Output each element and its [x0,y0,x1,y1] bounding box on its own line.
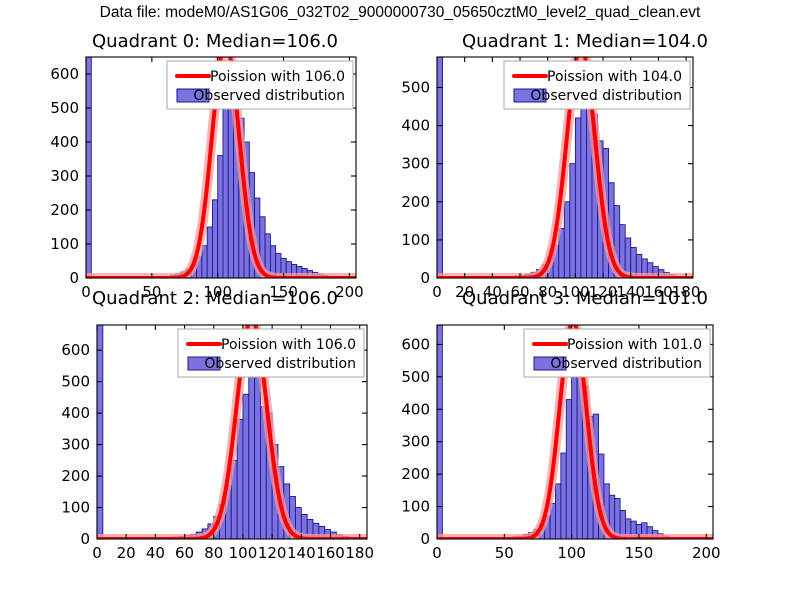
x-tick-label: 60 [175,544,194,562]
legend[interactable]: Poission with 104.0Observed distribution [504,61,690,109]
legend[interactable]: Poission with 106.0Observed distribution [167,61,353,109]
y-tick-label: 0 [420,269,430,287]
y-tick-label: 400 [61,404,90,422]
legend[interactable]: Poission with 101.0Observed distribution [524,329,710,377]
panel-quadrant-1: 0204060801001201401601800100200300400500… [385,47,707,308]
y-tick-label: 100 [50,235,79,253]
y-tick-label: 100 [401,231,430,249]
y-tick-label: 600 [401,335,430,353]
legend-label-poisson: Poission with 104.0 [547,69,682,85]
x-tick-label: 150 [625,544,654,562]
x-tick-label: 160 [316,544,345,562]
x-tick-label: 0 [432,544,442,562]
y-tick-label: 200 [401,465,430,483]
legend-label-observed: Observed distribution [193,88,345,104]
legend-label-poisson: Poission with 101.0 [567,337,702,353]
x-tick-label: 100 [557,544,586,562]
x-tick-label: 140 [287,544,316,562]
panel-title-quadrant-3: Quadrant 3: Median=101.0 [370,288,800,309]
panel-quadrant-2: 0204060801001201401601800100200300400500… [45,315,381,569]
legend[interactable]: Poission with 106.0Observed distribution [178,329,364,377]
y-tick-label: 500 [61,373,90,391]
x-tick-label: 20 [117,544,136,562]
panel-quadrant-0: 0501001502000100200300400500600Poission … [34,47,370,308]
y-tick-label: 400 [50,133,79,151]
y-tick-label: 200 [401,193,430,211]
x-tick-label: 40 [146,544,165,562]
legend-label-observed: Observed distribution [204,356,356,372]
legend-label-observed: Observed distribution [550,356,702,372]
y-tick-label: 200 [61,467,90,485]
y-tick-label: 600 [50,65,79,83]
x-tick-label: 50 [495,544,514,562]
y-tick-label: 500 [401,78,430,96]
figure-suptitle: Data file: modeM0/AS1G06_032T02_90000007… [0,4,800,22]
y-tick-label: 0 [80,530,90,548]
y-tick-label: 600 [61,341,90,359]
y-tick-label: 100 [401,498,430,516]
legend-label-poisson: Poission with 106.0 [210,69,345,85]
y-tick-label: 300 [401,155,430,173]
x-tick-label: 120 [258,544,287,562]
x-tick-label: 80 [204,544,223,562]
y-tick-label: 400 [401,117,430,135]
x-tick-label: 200 [692,544,721,562]
y-tick-label: 500 [50,99,79,117]
x-tick-label: 180 [345,544,374,562]
y-tick-label: 400 [401,400,430,418]
legend-label-observed: Observed distribution [530,88,682,104]
y-tick-label: 100 [61,499,90,517]
y-tick-label: 300 [61,436,90,454]
y-tick-label: 0 [420,530,430,548]
y-tick-label: 500 [401,368,430,386]
figure-canvas: Data file: modeM0/AS1G06_032T02_90000007… [0,0,800,600]
y-tick-label: 200 [50,201,79,219]
y-tick-label: 0 [69,269,79,287]
panel-title-quadrant-2: Quadrant 2: Median=106.0 [0,288,430,309]
y-tick-label: 300 [401,433,430,451]
legend-label-poisson: Poission with 106.0 [221,337,356,353]
panel-quadrant-3: 0501001502000100200300400500600Poission … [385,315,727,569]
x-tick-label: 0 [92,544,102,562]
x-tick-label: 100 [229,544,258,562]
y-tick-label: 300 [50,167,79,185]
